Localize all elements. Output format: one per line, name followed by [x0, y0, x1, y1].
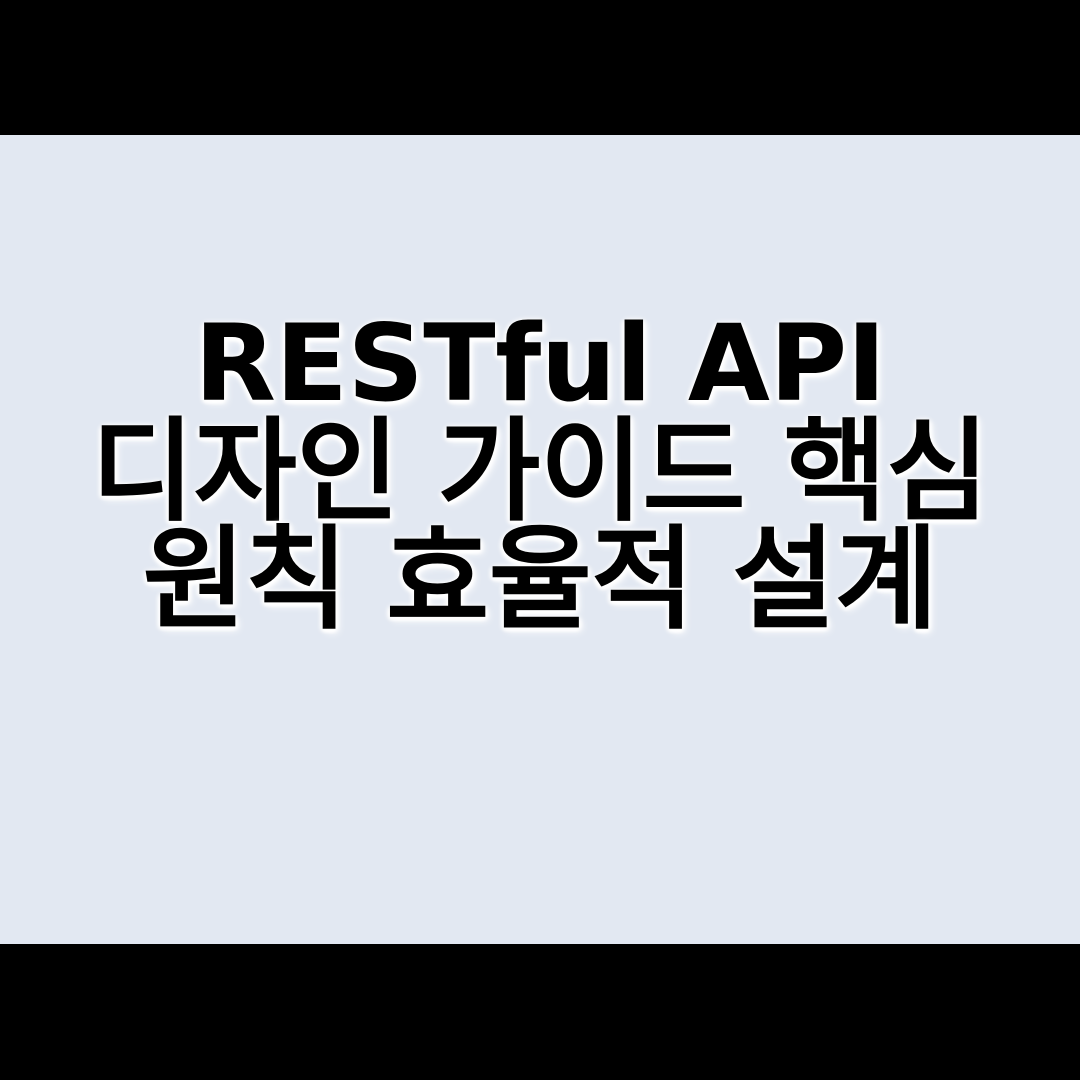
title-line-1: RESTful API [40, 310, 1040, 418]
bottom-letterbox-bar [0, 944, 1080, 1080]
title-card-content-area: RESTful API 디자인 가이드 핵심 원칙 효율적 설계 [0, 135, 1080, 944]
top-letterbox-bar [0, 0, 1080, 135]
thumbnail-canvas: RESTful API 디자인 가이드 핵심 원칙 효율적 설계 [0, 0, 1080, 1080]
title-block: RESTful API 디자인 가이드 핵심 원칙 효율적 설계 [40, 310, 1040, 634]
title-line-2: 디자인 가이드 핵심 [40, 418, 1040, 526]
title-line-3: 원칙 효율적 설계 [40, 526, 1040, 634]
